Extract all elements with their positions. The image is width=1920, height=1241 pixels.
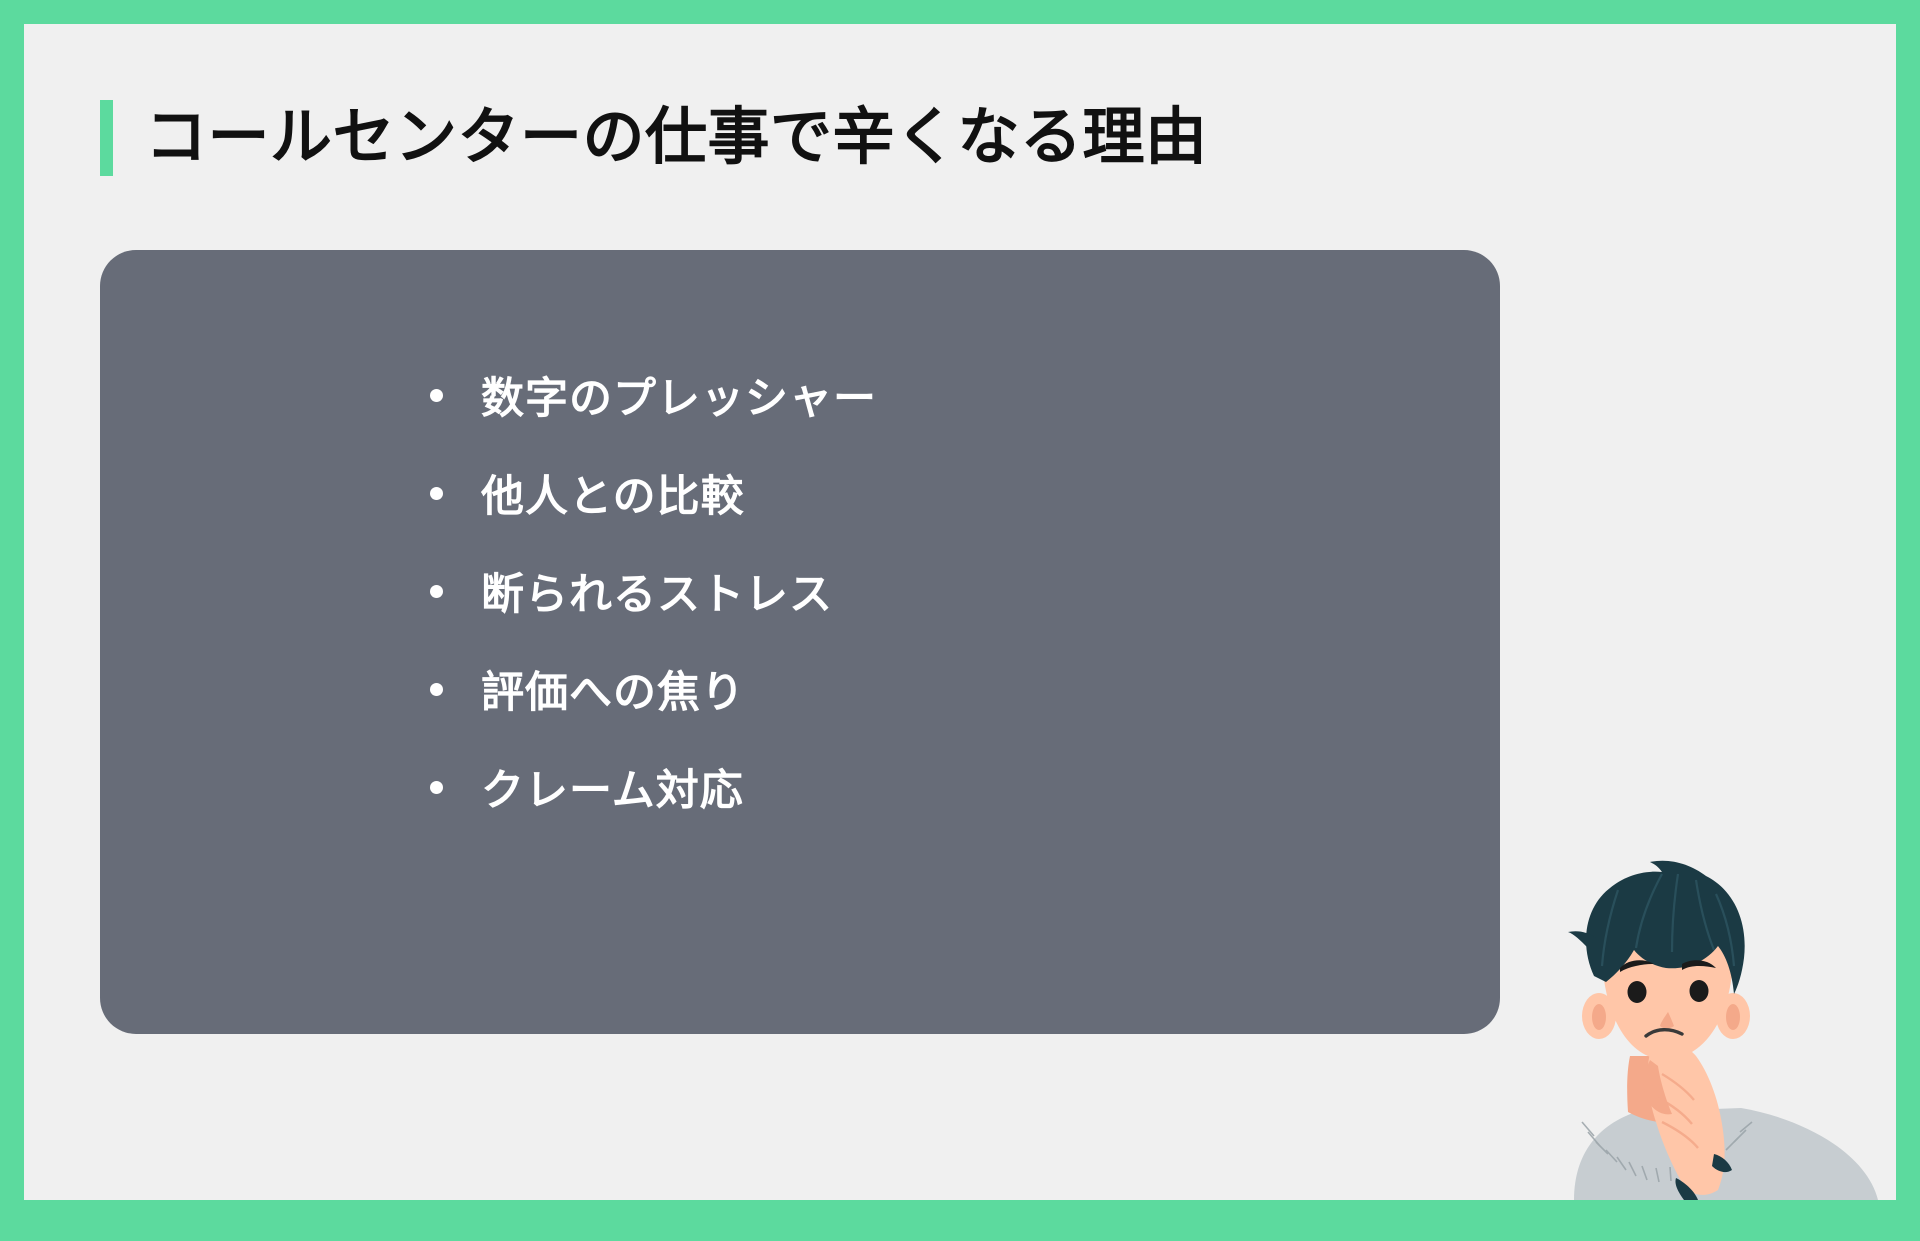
bullet-dot-icon: [430, 389, 443, 402]
title-accent-bar: [100, 100, 113, 176]
list-item: 評価への焦り: [430, 640, 877, 738]
list-item-label: クレーム対応: [481, 756, 744, 818]
hand-accent: [1675, 1178, 1698, 1200]
left-ear: [1582, 993, 1616, 1039]
list-item-label: 断られるストレス: [481, 560, 833, 622]
title-row: コールセンターの仕事で辛くなる理由: [100, 98, 1208, 178]
bullet-list: 数字のプレッシャー 他人との比較 断られるストレス 評価への焦り クレーム対応: [430, 346, 877, 836]
hand-knuckles: [1644, 1060, 1672, 1114]
finger-lines: [1658, 1074, 1698, 1148]
nose: [1660, 1012, 1674, 1028]
sweater-shape: [1574, 1108, 1878, 1200]
list-item: 断られるストレス: [430, 542, 877, 640]
hair-tuft: [1568, 931, 1596, 948]
right-ear: [1716, 993, 1750, 1039]
right-eye: [1690, 980, 1709, 1002]
bullet-dot-icon: [430, 487, 443, 500]
face-shape: [1602, 886, 1733, 1060]
page-title: コールセンターの仕事で辛くなる理由: [145, 107, 1208, 169]
bullet-dot-icon: [430, 683, 443, 696]
list-item-label: 評価への焦り: [481, 658, 745, 720]
list-item-label: 他人との比較: [481, 462, 745, 524]
list-item-label: 数字のプレッシャー: [481, 364, 877, 426]
neck-shape: [1627, 1056, 1700, 1123]
list-item: クレーム対応: [430, 738, 877, 836]
bullet-dot-icon: [430, 781, 443, 794]
left-eye: [1628, 981, 1647, 1003]
bullet-dot-icon: [430, 585, 443, 598]
thumb-accent: [1712, 1154, 1732, 1172]
mouth: [1646, 1030, 1682, 1036]
hand-shape: [1648, 1042, 1725, 1195]
content-panel: 数字のプレッシャー 他人との比較 断られるストレス 評価への焦り クレーム対応: [100, 250, 1500, 1034]
list-item: 他人との比較: [430, 444, 877, 542]
list-item: 数字のプレッシャー: [430, 346, 877, 444]
thinking-man-illustration: [1566, 860, 1896, 1200]
slide-root: コールセンターの仕事で辛くなる理由 数字のプレッシャー 他人との比較 断られるス…: [0, 0, 1920, 1241]
left-eyebrow: [1620, 960, 1654, 972]
hair-strands: [1602, 874, 1734, 966]
hair-shape: [1586, 861, 1745, 994]
collar-ribbing: [1582, 1122, 1752, 1182]
right-eyebrow: [1682, 960, 1716, 970]
slide-canvas: コールセンターの仕事で辛くなる理由 数字のプレッシャー 他人との比較 断られるス…: [24, 24, 1896, 1200]
